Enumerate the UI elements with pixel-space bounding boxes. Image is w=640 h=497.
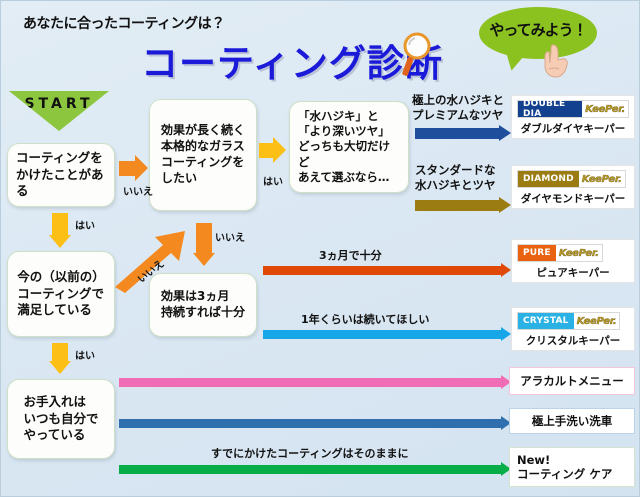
keeper-text: KeePer. xyxy=(582,174,622,185)
product-card-double-diamond[interactable]: DOUBLE DIA KeePer. ダブルダイヤキーパー xyxy=(511,95,635,139)
arrow-shaft xyxy=(119,465,501,474)
arrow-head xyxy=(49,361,71,374)
arrow-shaft xyxy=(263,330,501,339)
product-card-diamond[interactable]: DIAMOND KeePer. ダイヤモンドキーパー xyxy=(511,165,635,209)
arrow-to-diamond xyxy=(415,197,511,213)
arrow-shaft xyxy=(263,266,501,275)
q4-line3: コーティングを xyxy=(161,155,245,171)
speech-bubble: やってみよう！ xyxy=(479,7,604,81)
diamond-logo: DIAMOND KeePer. xyxy=(517,170,626,188)
arrow-to-pure xyxy=(263,263,511,277)
arrow-shaft xyxy=(119,161,135,176)
arrow-q4-no-to-q5 xyxy=(193,223,215,266)
keeper-mark: KeePer. xyxy=(579,171,625,187)
q6-line2: 「より深いツヤ」 xyxy=(298,124,400,139)
arrow-shaft xyxy=(119,419,501,428)
standard-line2: 水ハジキとツヤ xyxy=(415,178,496,193)
arrow-to-double-diamond xyxy=(415,125,511,141)
arrow-head xyxy=(193,253,215,266)
q6-line3: どっちも大切だけど xyxy=(298,139,400,169)
label-three-months: 3ヵ月で十分 xyxy=(319,247,382,263)
arrow-q4-yes-to-q6 xyxy=(259,137,286,163)
arrow-head xyxy=(273,137,286,163)
product-name-jp: ダブルダイヤキーパー xyxy=(517,121,629,136)
arrow-head xyxy=(499,197,511,213)
question-box-water-vs-gloss[interactable]: 「水ハジキ」と 「より深いツヤ」 どっちも大切だけど あえて選ぶなら… xyxy=(289,101,409,193)
arrow-to-coating-care xyxy=(119,462,511,476)
arrow-shaft xyxy=(196,223,212,253)
label-q2-yes: はい xyxy=(75,347,95,362)
menu-card-alacarte[interactable]: アラカルトメニュー xyxy=(509,367,635,395)
arrow-shaft xyxy=(52,343,68,361)
label-q1-yes: はい xyxy=(75,217,95,232)
q3-line3: やっている xyxy=(23,427,98,444)
start-banner: START xyxy=(9,91,109,131)
pure-logo: PURE KeePer. xyxy=(517,244,603,262)
page-title: コーティング診断 xyxy=(141,33,443,87)
q1-line1: コーティングを xyxy=(16,150,106,167)
arrow-shaft xyxy=(415,200,499,211)
arrow-shaft xyxy=(52,213,68,235)
q5-line2: 持続すれば十分 xyxy=(161,305,245,321)
keeper-text: KeePer. xyxy=(577,316,617,327)
brand-name: CRYSTAL xyxy=(518,313,574,329)
q6-line1: 「水ハジキ」と xyxy=(298,109,400,124)
product-card-crystal[interactable]: CRYSTAL KeePer. クリスタルキーパー xyxy=(511,307,635,351)
keeper-mark: KeePer. xyxy=(556,245,602,261)
q2-line2: コーティングで xyxy=(17,286,105,303)
product-card-pure[interactable]: PURE KeePer. ピュアキーパー xyxy=(511,239,635,283)
arrow-q1-yes-to-q2 xyxy=(49,213,71,248)
question-box-coating-history[interactable]: コーティングを かけたことがある xyxy=(7,143,115,207)
q3-line2: いつも自分で xyxy=(23,411,98,428)
brand-name: DIAMOND xyxy=(518,171,579,187)
q2-line1: 今の（以前の） xyxy=(17,269,105,286)
arrow-to-crystal xyxy=(263,327,511,341)
arrow-head xyxy=(49,235,71,248)
arrow-head xyxy=(135,155,148,181)
arrow-head xyxy=(501,327,511,341)
product-name-jp: クリスタルキーパー xyxy=(517,333,629,348)
q3-line1: お手入れは xyxy=(23,394,98,411)
keeper-text: KeePer. xyxy=(559,248,599,259)
arrow-shaft xyxy=(119,378,501,387)
diagnosis-flowchart: あなたに合ったコーティングは？ コーティング診断 やってみよう！ START コ… xyxy=(0,0,640,497)
bubble-tail xyxy=(502,47,529,72)
pointing-hand-icon xyxy=(541,43,571,79)
arrow-to-alacarte xyxy=(119,375,511,389)
product-name-jp: ピュアキーパー xyxy=(517,265,629,280)
label-keep-coating: すでにかけたコーティングはそのままに xyxy=(211,445,408,461)
brand-name: DOUBLE DIA xyxy=(518,101,582,117)
menu-card-coating-care[interactable]: New! コーティング ケア xyxy=(509,447,635,487)
coating-care-label: コーティング ケア xyxy=(517,467,612,481)
q6-line4: あえて選ぶなら… xyxy=(298,170,400,185)
keeper-mark: KeePer. xyxy=(582,101,628,117)
question-box-self-maintenance[interactable]: お手入れは いつも自分で やっている xyxy=(7,379,115,459)
bubble-label: やってみよう！ xyxy=(479,19,597,40)
new-tag: New! xyxy=(517,453,612,467)
brand-name: PURE xyxy=(518,245,556,261)
label-q1-no: いいえ xyxy=(123,183,153,198)
question-box-satisfaction[interactable]: 今の（以前の） コーティングで 満足している xyxy=(7,251,115,337)
q4-line2: 本格的なガラス xyxy=(161,139,245,155)
page-subtitle: あなたに合ったコーティングは？ xyxy=(23,13,225,33)
arrow-q2-yes-to-q3 xyxy=(49,343,71,374)
keeper-text: KeePer. xyxy=(585,104,625,115)
arrow-shaft xyxy=(259,143,273,158)
arrow-head xyxy=(499,125,511,141)
product-name-jp: ダイヤモンドキーパー xyxy=(517,191,629,206)
label-q4-no: いいえ xyxy=(215,229,245,244)
result-label-premium: 極上の水ハジキと プレミアムなツヤ xyxy=(412,93,504,122)
arrow-q1-no-to-q4 xyxy=(119,155,148,181)
premium-line2: プレミアムなツヤ xyxy=(412,108,504,123)
label-q4-yes: はい xyxy=(263,173,283,188)
result-label-standard: スタンダードな 水ハジキとツヤ xyxy=(415,163,496,192)
menu-card-handwash[interactable]: 極上手洗い洗車 xyxy=(509,408,635,434)
q2-line3: 満足している xyxy=(17,302,105,319)
double-dia-logo: DOUBLE DIA KeePer. xyxy=(517,100,629,118)
arrow-shaft xyxy=(415,128,499,139)
magnifier-icon xyxy=(399,31,435,77)
arrow-head xyxy=(501,263,511,277)
question-box-glass-coating[interactable]: 効果が長く続く 本格的なガラス コーティングを したい xyxy=(149,99,257,211)
arrow-to-handwash xyxy=(119,416,511,430)
label-one-year: 1年くらいは続いてほしい xyxy=(301,311,429,327)
q1-line2: かけたことがある xyxy=(16,167,106,200)
crystal-logo: CRYSTAL KeePer. xyxy=(517,312,620,330)
keeper-mark: KeePer. xyxy=(574,313,620,329)
standard-line1: スタンダードな xyxy=(415,163,496,178)
premium-line1: 極上の水ハジキと xyxy=(412,93,504,108)
q4-line1: 効果が長く続く xyxy=(161,123,245,139)
q4-line4: したい xyxy=(161,171,245,187)
